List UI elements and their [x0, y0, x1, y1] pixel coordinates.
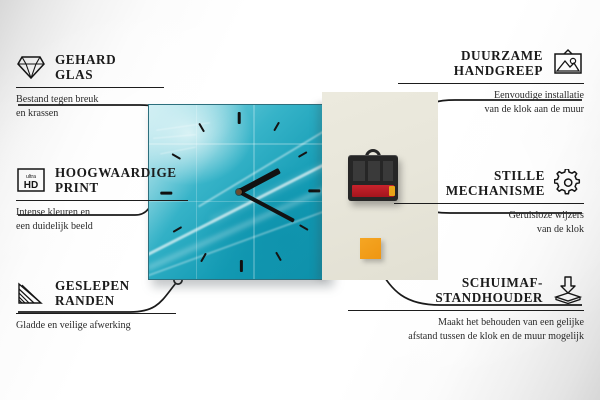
feature-rule — [16, 200, 188, 201]
feature-rule — [394, 203, 584, 204]
feature-gehard-glas: GEHARD GLAS Bestand tegen breuk en krass… — [16, 52, 188, 120]
svg-text:HD: HD — [24, 180, 38, 191]
feature-hoogwaardige-print: ultra HD HOOGWAARDIGE PRINT Intense kleu… — [16, 165, 206, 233]
feature-description: Bestand tegen breuk en krassen — [16, 93, 188, 120]
feature-duurzame-handgreep: DUURZAME HANDGREEP Eenvoudige installati… — [398, 48, 584, 116]
gear-icon — [554, 169, 584, 197]
feature-description: Geruisloze wijzers van de klok — [394, 209, 584, 236]
feature-title: GEHARD GLAS — [55, 52, 116, 83]
mechanism-body — [348, 155, 398, 201]
picture-frame-icon — [552, 49, 584, 77]
infographic-canvas: GEHARD GLAS Bestand tegen breuk en krass… — [0, 0, 600, 400]
mechanism-detail — [353, 161, 393, 181]
feature-rule — [348, 310, 584, 311]
ultra-hd-icon: ultra HD — [16, 167, 46, 193]
feature-rule — [16, 87, 164, 88]
down-arrow-pad-icon — [552, 276, 584, 304]
foam-spacer — [360, 238, 381, 259]
diamond-icon — [16, 54, 46, 80]
feature-rule — [398, 83, 584, 84]
feature-geslepen-randen: GESLEPEN RANDEN Gladde en veilige afwerk… — [16, 278, 196, 333]
feature-description: Intense kleuren en een duidelijk beeld — [16, 206, 206, 233]
feature-title: GESLEPEN RANDEN — [55, 278, 130, 309]
clock-mechanism — [348, 155, 398, 201]
beveled-edge-icon — [16, 280, 46, 306]
feature-description: Maakt het behouden van een gelijke afsta… — [348, 316, 584, 343]
feature-rule — [16, 313, 176, 314]
feature-title: DUURZAME HANDGREEP — [454, 48, 543, 79]
feature-description: Eenvoudige installatie van de klok aan d… — [398, 89, 584, 116]
clock-center-pin — [236, 189, 242, 195]
battery — [352, 185, 394, 197]
feature-schuimafstandhouder: SCHUIMAF- STANDHOUDER Maakt het behouden… — [348, 275, 584, 343]
feature-description: Gladde en veilige afwerking — [16, 319, 196, 333]
feature-title: SCHUIMAF- STANDHOUDER — [435, 275, 543, 306]
feature-title: STILLE MECHANISME — [446, 168, 545, 199]
feature-stille-mechanisme: STILLE MECHANISME Geruisloze wijzers van… — [394, 168, 584, 236]
feature-title: HOOGWAARDIGE PRINT — [55, 165, 177, 196]
